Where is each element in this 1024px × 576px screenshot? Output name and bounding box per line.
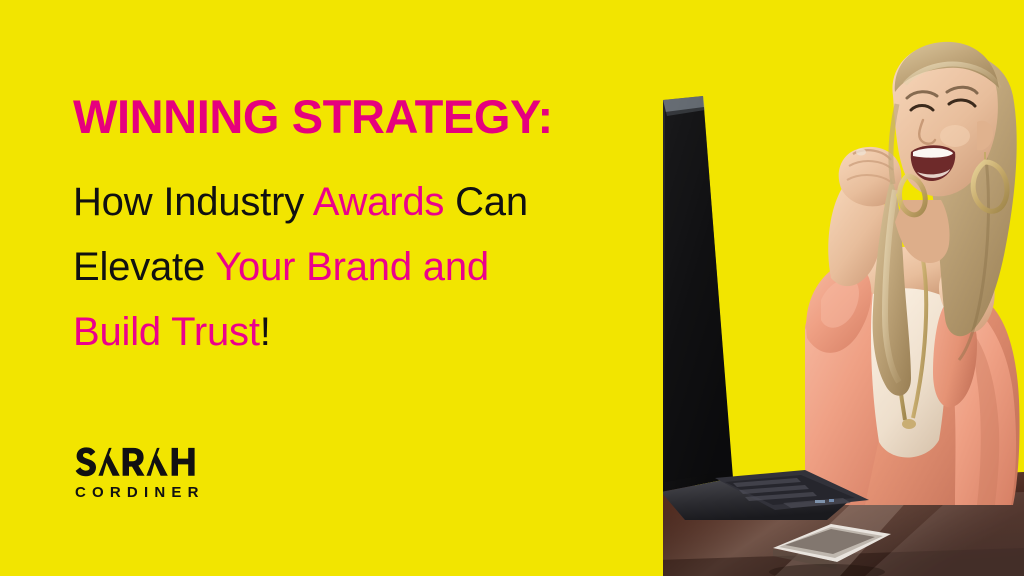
logo-wordmark-sarah <box>73 446 223 480</box>
logo-wordmark-cordiner: CORDINER <box>75 484 205 501</box>
subheadline-line-2: Elevate Your Brand and <box>73 235 633 300</box>
promo-banner: WINNING STRATEGY: How Industry Awards Ca… <box>0 0 1024 576</box>
hero-photo <box>655 0 1024 576</box>
subheadline-line-1: How Industry Awards Can <box>73 170 633 235</box>
subheadline-l2-seg-1: Elevate <box>73 245 215 289</box>
subheadline-l3-seg-1: Build Trust <box>73 310 260 354</box>
subheadline-l1-seg-2: Awards <box>313 180 444 224</box>
subheadline: How Industry Awards Can Elevate Your Bra… <box>73 170 633 365</box>
subheadline-line-3: Build Trust! <box>73 300 633 365</box>
subheadline-l2-seg-2: Your Brand and <box>215 245 489 289</box>
headline: WINNING STRATEGY: <box>73 92 553 142</box>
brand-logo: CORDINER <box>73 446 223 504</box>
subheadline-l3-seg-2: ! <box>260 310 271 354</box>
subheadline-l1-seg-3: Can <box>444 180 528 224</box>
subheadline-l1-seg-1: How Industry <box>73 180 313 224</box>
